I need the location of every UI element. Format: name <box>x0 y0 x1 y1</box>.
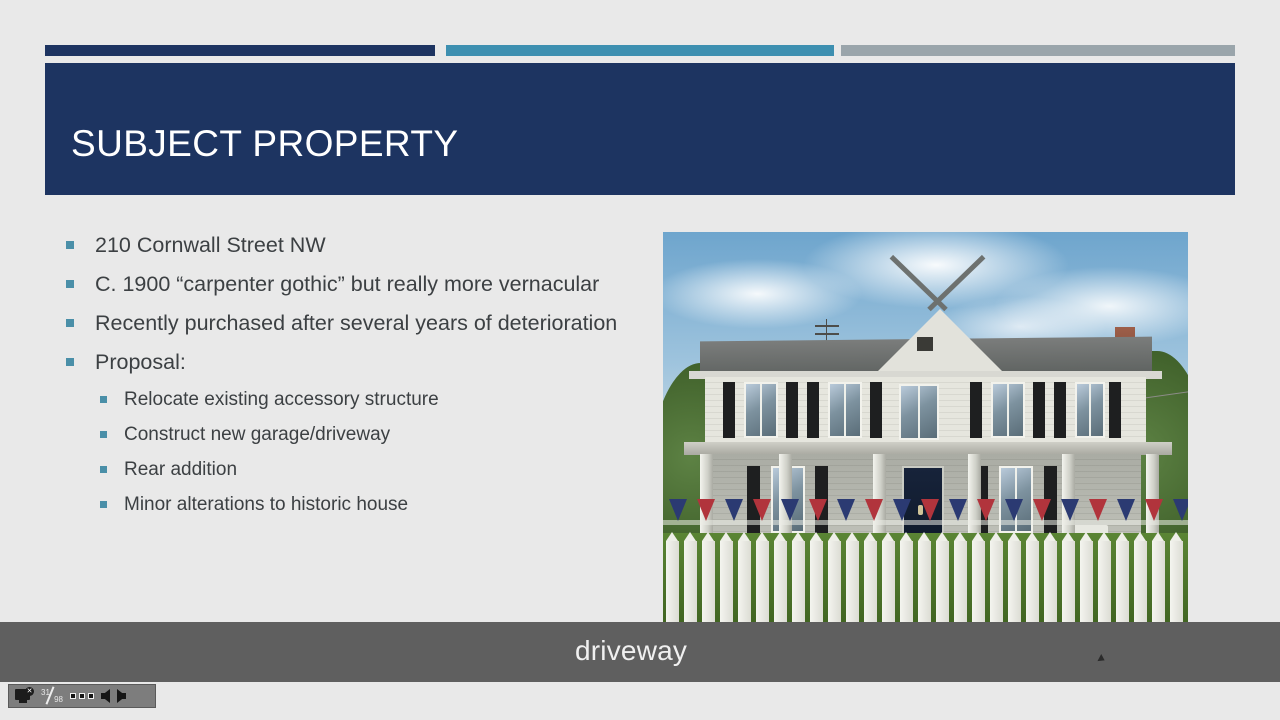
list-item: Rear addition <box>66 458 621 482</box>
slide-grid-icon <box>70 693 94 699</box>
list-item-text: Construct new garage/driveway <box>124 423 390 447</box>
slide-counter: 31 98 <box>41 687 63 705</box>
shutter <box>807 382 819 437</box>
page-title: SUBJECT PROPERTY <box>71 123 458 165</box>
bullet-marker-icon <box>66 241 74 249</box>
title-banner: SUBJECT PROPERTY <box>45 63 1235 195</box>
bullet-marker-icon <box>100 431 107 438</box>
list-item: Recently purchased after several years o… <box>66 310 621 336</box>
accent-bar-navy <box>45 45 435 56</box>
list-item: Relocate existing accessory structure <box>66 388 621 412</box>
property-photo-illustration <box>663 232 1188 628</box>
list-item: Minor alterations to historic house <box>66 493 621 517</box>
front-gable <box>878 309 1002 371</box>
list-item-text: Relocate existing accessory structure <box>124 388 439 412</box>
window-gable <box>899 384 939 439</box>
total-slide-number: 98 <box>54 695 63 704</box>
list-item: Proposal: <box>66 349 621 375</box>
next-slide-button[interactable] <box>117 687 126 705</box>
caption-text: driveway <box>575 635 687 667</box>
window <box>744 382 778 437</box>
accent-bar-gray <box>841 45 1235 56</box>
flag-bunting <box>663 499 1188 525</box>
shutter <box>723 382 735 437</box>
bullet-marker-icon <box>100 466 107 473</box>
bullet-marker-icon <box>66 358 74 366</box>
shutter <box>870 382 882 437</box>
shutter <box>1033 382 1045 437</box>
shutter <box>970 382 982 437</box>
arrow-left-icon <box>101 689 110 703</box>
window <box>991 382 1025 437</box>
list-item-text: Rear addition <box>124 458 237 482</box>
window <box>828 382 862 437</box>
list-item-text: 210 Cornwall Street NW <box>95 232 326 258</box>
list-item-text: C. 1900 “carpenter gothic” but really mo… <box>95 271 599 297</box>
arrow-right-icon <box>117 689 126 703</box>
accent-bar-teal <box>446 45 834 56</box>
gable-vent <box>917 337 933 351</box>
bullet-marker-icon <box>100 396 107 403</box>
bullet-marker-icon <box>66 319 74 327</box>
list-item: 210 Cornwall Street NW <box>66 232 621 258</box>
bullet-list: 210 Cornwall Street NW C. 1900 “carpente… <box>66 232 621 528</box>
shutter <box>1054 382 1066 437</box>
list-item-text: Minor alterations to historic house <box>124 493 408 517</box>
shutter <box>786 382 798 437</box>
caption-overlay-bar: driveway <box>0 622 1280 682</box>
slide-grid-button[interactable] <box>70 687 94 705</box>
window <box>1075 382 1105 437</box>
previous-slide-button[interactable] <box>101 687 110 705</box>
property-photo <box>663 232 1188 628</box>
close-badge: ✕ <box>25 687 34 696</box>
list-item: C. 1900 “carpenter gothic” but really mo… <box>66 271 621 297</box>
shutter <box>1109 382 1121 437</box>
bullet-marker-icon <box>66 280 74 288</box>
presentation-slide: SUBJECT PROPERTY 210 Cornwall Street NW … <box>0 0 1280 720</box>
picket-fence <box>663 541 1188 628</box>
list-item-text: Recently purchased after several years o… <box>95 310 617 336</box>
list-item-text: Proposal: <box>95 349 186 375</box>
list-item: Construct new garage/driveway <box>66 423 621 447</box>
end-show-button[interactable]: ✕ <box>15 687 34 705</box>
monitor-close-icon: ✕ <box>15 688 34 704</box>
presentation-toolbar[interactable]: ✕ 31 98 <box>8 684 156 708</box>
bullet-marker-icon <box>100 501 107 508</box>
